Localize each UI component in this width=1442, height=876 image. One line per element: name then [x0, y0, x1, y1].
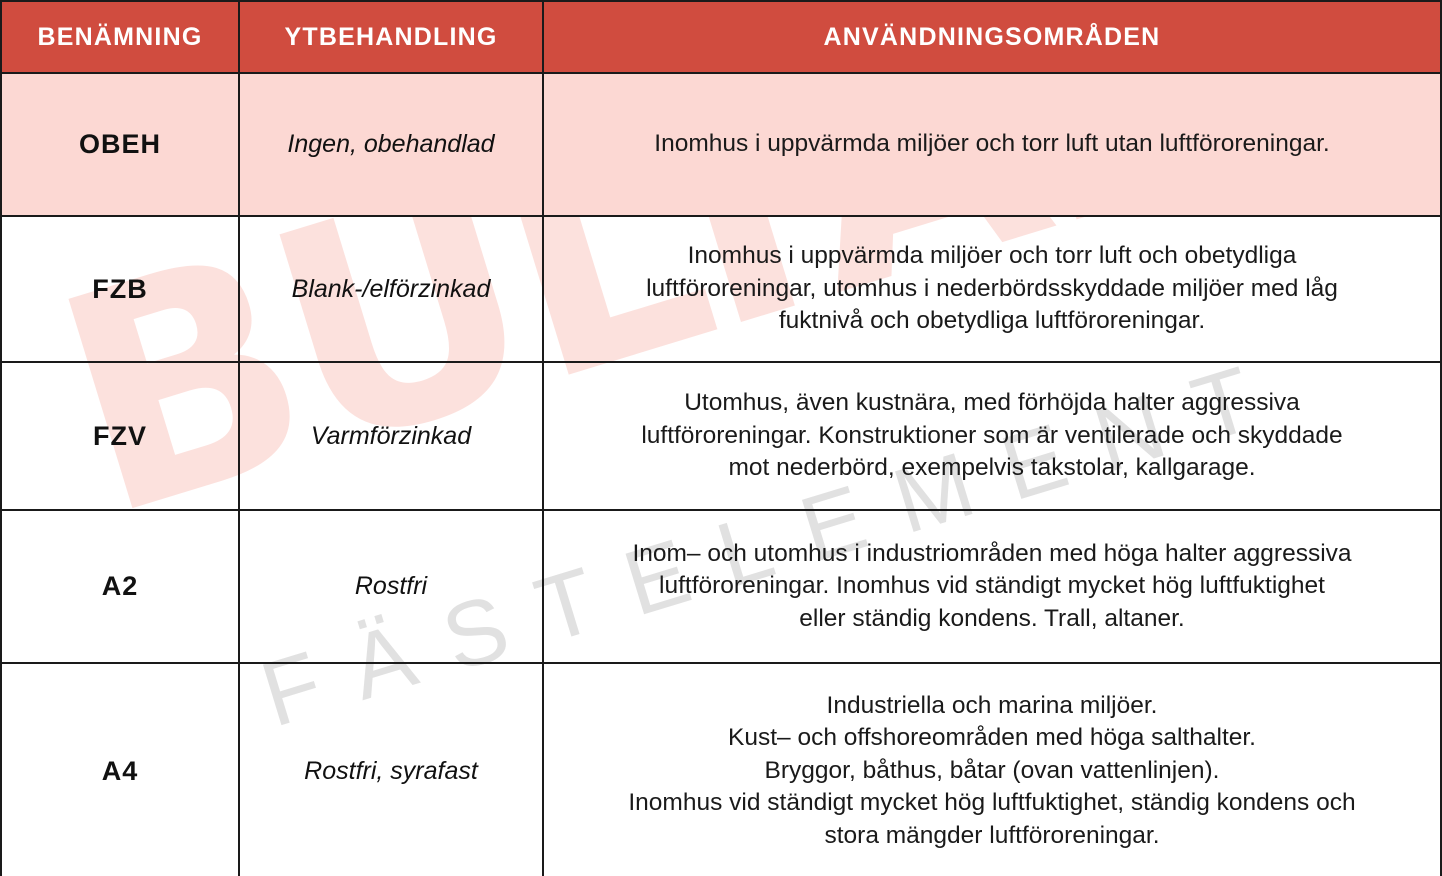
usage-line: Industriella och marina miljöer. — [544, 690, 1440, 723]
cell-code: OBEH — [1, 73, 239, 216]
usage-line: Bryggor, båthus, båtar (ovan vattenlinje… — [544, 755, 1440, 788]
page-root: BULTAB FÄSTELEMENT BENÄMNING YTBEHANDLIN… — [0, 0, 1442, 876]
table-row: A2 Rostfri Inom– och utomhus i industrio… — [1, 510, 1441, 663]
usage-line: eller ständig kondens. Trall, altaner. — [544, 603, 1440, 636]
cell-code: FZV — [1, 362, 239, 510]
table-header: BENÄMNING YTBEHANDLING ANVÄNDNINGSOMRÅDE… — [1, 1, 1441, 73]
cell-usage: Inomhus i uppvärmda miljöer och torr luf… — [543, 73, 1441, 216]
usage-line: Utomhus, även kustnära, med förhöjda hal… — [544, 387, 1440, 420]
usage-line: Inomhus i uppvärmda miljöer och torr luf… — [544, 128, 1440, 161]
usage-line: fuktnivå och obetydliga luftföroreningar… — [544, 305, 1440, 338]
header-ytbehandling: YTBEHANDLING — [239, 1, 543, 73]
table-row: FZB Blank-/elförzinkad Inomhus i uppvärm… — [1, 216, 1441, 362]
usage-line: Inomhus vid ständigt mycket hög luftfukt… — [544, 787, 1440, 820]
cell-surface: Ingen, obehandlad — [239, 73, 543, 216]
surface-treatment-table: BENÄMNING YTBEHANDLING ANVÄNDNINGSOMRÅDE… — [0, 0, 1442, 876]
table-header-row: BENÄMNING YTBEHANDLING ANVÄNDNINGSOMRÅDE… — [1, 1, 1441, 73]
usage-line: Kust– och offshoreområden med höga salth… — [544, 722, 1440, 755]
usage-line: Inomhus i uppvärmda miljöer och torr luf… — [544, 240, 1440, 273]
usage-line: luftföroreningar. Konstruktioner som är … — [544, 420, 1440, 453]
cell-usage: Industriella och marina miljöer. Kust– o… — [543, 663, 1441, 876]
cell-code: FZB — [1, 216, 239, 362]
cell-surface: Varmförzinkad — [239, 362, 543, 510]
cell-surface: Rostfri, syrafast — [239, 663, 543, 876]
usage-line: stora mängder luftföroreningar. — [544, 820, 1440, 853]
cell-surface: Blank-/elförzinkad — [239, 216, 543, 362]
header-benamning: BENÄMNING — [1, 1, 239, 73]
usage-line: Inom– och utomhus i industriområden med … — [544, 538, 1440, 571]
cell-code: A2 — [1, 510, 239, 663]
surface-treatment-table-container: BENÄMNING YTBEHANDLING ANVÄNDNINGSOMRÅDE… — [0, 0, 1442, 876]
usage-line: luftföroreningar. Inomhus vid ständigt m… — [544, 570, 1440, 603]
usage-line: mot nederbörd, exempelvis takstolar, kal… — [544, 452, 1440, 485]
cell-code: A4 — [1, 663, 239, 876]
table-row: A4 Rostfri, syrafast Industriella och ma… — [1, 663, 1441, 876]
table-row: FZV Varmförzinkad Utomhus, även kustnära… — [1, 362, 1441, 510]
header-anvandningsomraden: ANVÄNDNINGSOMRÅDEN — [543, 1, 1441, 73]
cell-usage: Utomhus, även kustnära, med förhöjda hal… — [543, 362, 1441, 510]
table-body: OBEH Ingen, obehandlad Inomhus i uppvärm… — [1, 73, 1441, 876]
table-row: OBEH Ingen, obehandlad Inomhus i uppvärm… — [1, 73, 1441, 216]
cell-usage: Inomhus i uppvärmda miljöer och torr luf… — [543, 216, 1441, 362]
cell-surface: Rostfri — [239, 510, 543, 663]
cell-usage: Inom– och utomhus i industriområden med … — [543, 510, 1441, 663]
usage-line: luftföroreningar, utomhus i nederbördssk… — [544, 273, 1440, 306]
